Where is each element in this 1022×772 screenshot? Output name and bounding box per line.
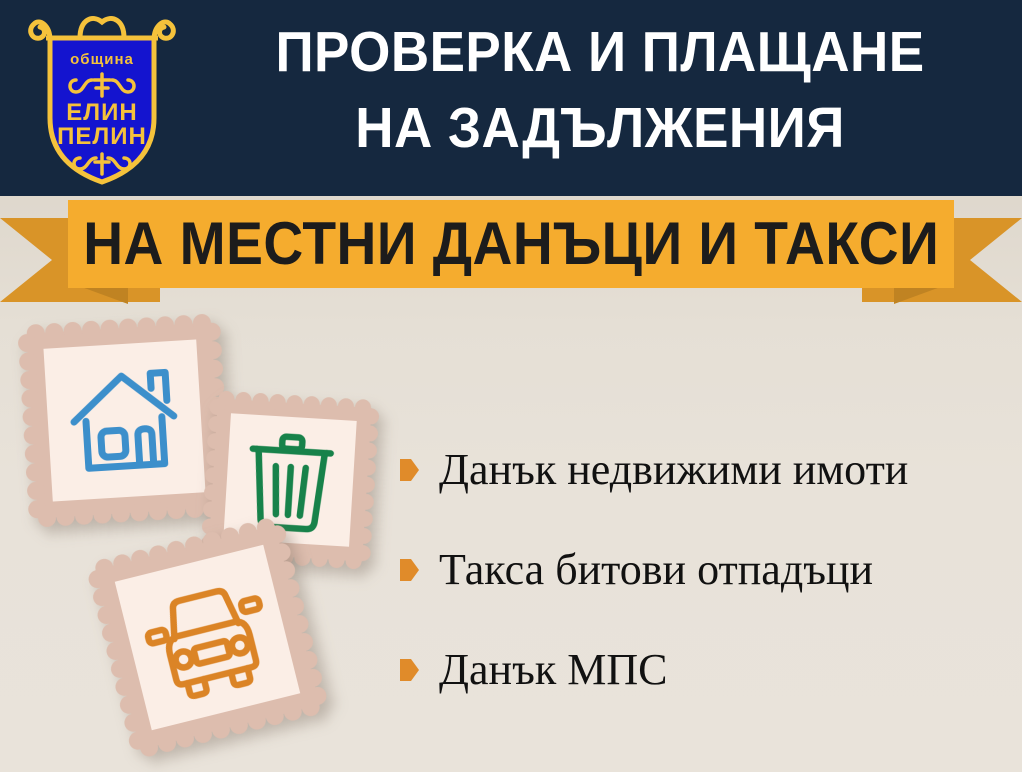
subtitle-ribbon: НА МЕСТНИ ДАНЪЦИ И ТАКСИ (0, 196, 1022, 308)
municipality-logo: община ЕЛИН ПЕЛИН (22, 8, 182, 190)
list-item-label: Данък недвижими имоти (439, 447, 908, 493)
list-item[interactable]: Данък МПС (400, 620, 1010, 720)
ribbon-banner: НА МЕСТНИ ДАНЪЦИ И ТАКСИ (68, 200, 954, 288)
ribbon-label: НА МЕСТНИ ДАНЪЦИ И ТАКСИ (83, 214, 939, 274)
arrow-bullet-icon (400, 459, 419, 481)
tax-type-list: Данък недвижими имоти Такса битови отпад… (400, 420, 1010, 720)
page-title-line-2: НА ЗАДЪЛЖЕНИЯ (219, 90, 982, 166)
stamp-house-graphic (16, 312, 233, 529)
svg-text:ПЕЛИН: ПЕЛИН (57, 123, 147, 150)
arrow-bullet-icon (400, 659, 419, 681)
list-item-label: Данък МПС (439, 647, 667, 693)
header-bar: община ЕЛИН ПЕЛИН ПРОВЕРКА И ПЛАЩАНЕ НА … (0, 0, 1022, 196)
stamp-card-property-tax (16, 312, 233, 529)
arrow-bullet-icon (400, 559, 419, 581)
page-title: ПРОВЕРКА И ПЛАЩАНЕ НА ЗАДЪЛЖЕНИЯ (219, 14, 982, 166)
list-item[interactable]: Такса битови отпадъци (400, 520, 1010, 620)
page-title-line-1: ПРОВЕРКА И ПЛАЩАНЕ (219, 14, 982, 90)
svg-text:ЕЛИН: ЕЛИН (66, 99, 137, 126)
list-item-label: Такса битови отпадъци (439, 547, 873, 593)
list-item[interactable]: Данък недвижими имоти (400, 420, 1010, 520)
poster-canvas: община ЕЛИН ПЕЛИН ПРОВЕРКА И ПЛАЩАНЕ НА … (0, 0, 1022, 772)
svg-text:община: община (70, 51, 134, 68)
